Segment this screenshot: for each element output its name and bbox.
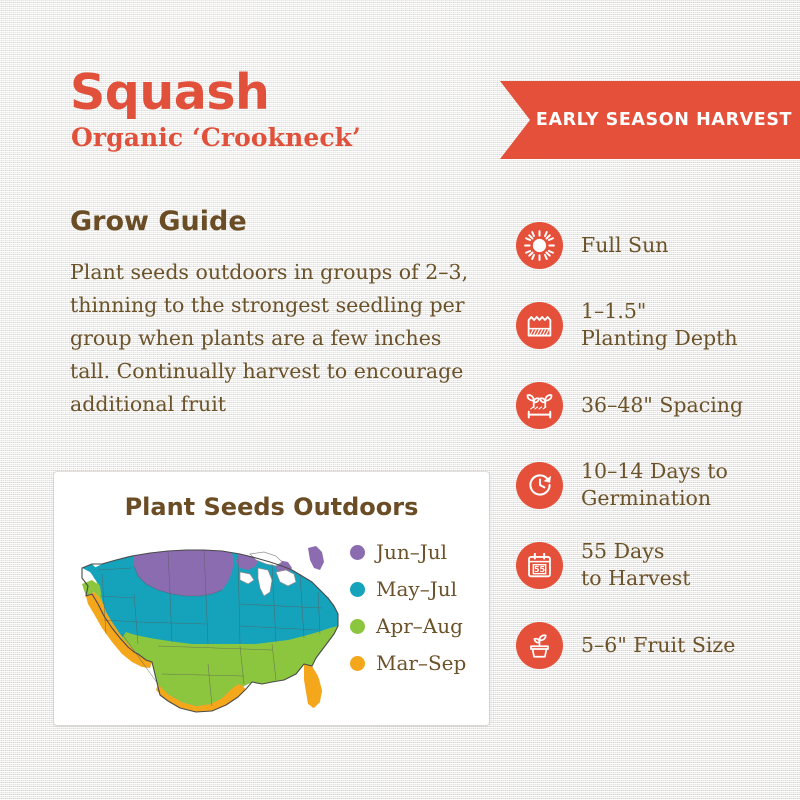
legend-label-mar-sep: Mar–Sep xyxy=(376,651,466,675)
map-card-title: Plant Seeds Outdoors xyxy=(54,493,489,521)
legend-item: Apr–Aug xyxy=(350,612,466,640)
growing-facts-list: Full Sun xyxy=(516,205,796,685)
fact-row-fruit-size: 5–6" Fruit Size xyxy=(516,605,796,685)
fact-label-full-sun: Full Sun xyxy=(581,232,669,259)
page-subtitle: Organic ‘Crookneck’ xyxy=(71,125,361,150)
fact-row-germination: 10–14 Days to Germination xyxy=(516,445,796,525)
legend-label-may-jul: May–Jul xyxy=(376,577,457,601)
calendar-icon: 55 xyxy=(516,542,563,589)
legend-dot-jun-jul xyxy=(350,545,365,560)
map-legend: Jun–Jul May–Jul Apr–Aug Mar–Sep xyxy=(350,538,466,677)
legend-dot-mar-sep xyxy=(350,656,365,671)
legend-item: Mar–Sep xyxy=(350,649,466,677)
fact-row-planting-depth: 1–1.5" Planting Depth xyxy=(516,285,796,365)
fact-label-spacing: 36–48" Spacing xyxy=(581,392,743,419)
planting-map-card: Plant Seeds Outdoors xyxy=(54,472,489,725)
harvest-season-banner: EARLY SEASON HARVEST xyxy=(500,81,800,159)
clock-icon xyxy=(516,462,563,509)
potted-plant-icon xyxy=(516,622,563,669)
fact-label-planting-depth: 1–1.5" Planting Depth xyxy=(581,298,738,352)
sun-icon xyxy=(516,222,563,269)
planting-depth-icon xyxy=(516,302,563,349)
harvest-season-banner-label: EARLY SEASON HARVEST xyxy=(508,110,792,130)
fact-label-germination: 10–14 Days to Germination xyxy=(581,458,728,512)
legend-item: May–Jul xyxy=(350,575,466,603)
usa-planting-zone-map xyxy=(72,534,347,714)
fact-row-spacing: 36–48" Spacing xyxy=(516,365,796,445)
fact-label-days-to-harvest: 55 Days to Harvest xyxy=(581,538,690,592)
grow-guide-body: Plant seeds outdoors in groups of 2–3, t… xyxy=(70,256,485,421)
fact-row-full-sun: Full Sun xyxy=(516,205,796,285)
legend-item: Jun–Jul xyxy=(350,538,466,566)
grow-guide-heading: Grow Guide xyxy=(70,208,247,235)
fact-row-days-to-harvest: 55 55 Days to Harvest xyxy=(516,525,796,605)
fact-label-fruit-size: 5–6" Fruit Size xyxy=(581,632,735,659)
legend-label-jun-jul: Jun–Jul xyxy=(376,540,447,564)
legend-dot-apr-aug xyxy=(350,619,365,634)
calendar-day-count: 55 xyxy=(534,564,546,574)
spacing-icon xyxy=(516,382,563,429)
page-title: Squash xyxy=(70,68,269,117)
legend-dot-may-jul xyxy=(350,582,365,597)
legend-label-apr-aug: Apr–Aug xyxy=(376,614,463,638)
